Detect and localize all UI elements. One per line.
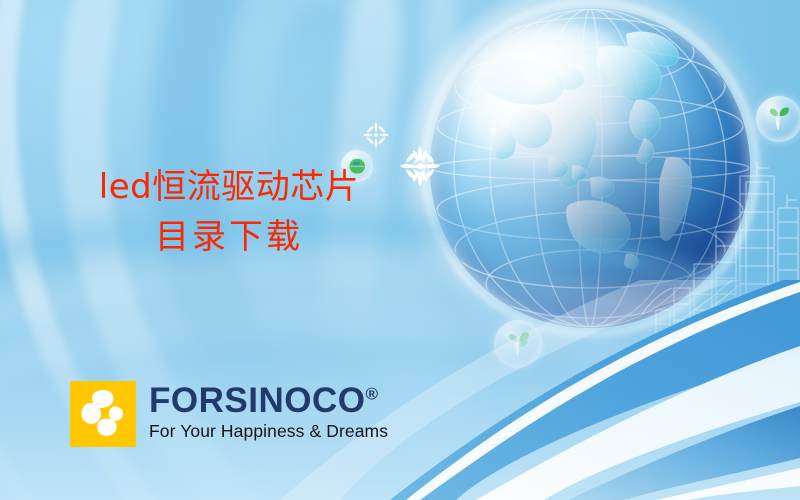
brand-name: FORSINOCO bbox=[149, 381, 365, 420]
flower-right bbox=[409, 152, 438, 181]
promo-banner: led恒流驱动芯片 目录下载 FORSINOCO® bbox=[0, 0, 800, 500]
flower-mid bbox=[363, 122, 389, 148]
page-title: led恒流驱动芯片 目录下载 bbox=[64, 162, 394, 263]
pinwheel-petals-svg bbox=[70, 381, 136, 447]
logo-text-block: FORSINOCO® For Your Happiness & Dreams bbox=[149, 381, 388, 442]
brand-logo[interactable]: FORSINOCO® For Your Happiness & Dreams bbox=[70, 381, 388, 447]
headline-line-1: led恒流驱动芯片 bbox=[64, 162, 394, 212]
bubble-edge bbox=[756, 96, 800, 142]
headline-line-2: 目录下载 bbox=[64, 212, 394, 262]
brand-tagline: For Your Happiness & Dreams bbox=[149, 421, 388, 442]
registered-trademark-icon: ® bbox=[365, 384, 378, 403]
pinwheel-clover-icon bbox=[70, 381, 136, 447]
green-leaf-icon bbox=[764, 104, 793, 133]
brand-wordmark: FORSINOCO® bbox=[149, 383, 388, 418]
